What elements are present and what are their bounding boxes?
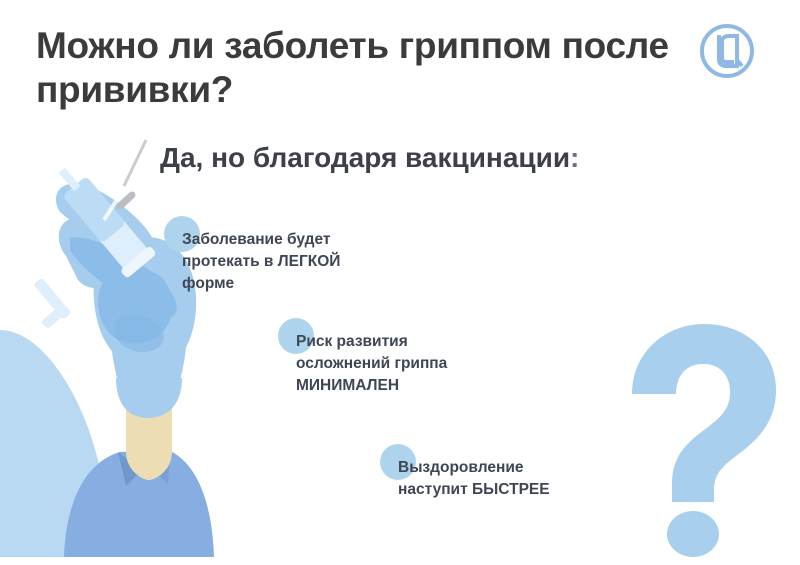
list-item-label: Риск развития осложнений гриппа МИНИМАЛЕ… <box>296 318 538 397</box>
subtitle-punctuation: : <box>570 142 579 173</box>
subtitle-text: Да, но благодаря вакцинации <box>160 142 570 173</box>
list-item-label: Выздоровление наступит БЫСТРЕЕ <box>398 444 640 501</box>
list-item: Заболевание будет протекать в ЛЕГКОЙ фор… <box>164 216 424 295</box>
list-item: Выздоровление наступит БЫСТРЕЕ <box>380 444 640 501</box>
question-mark-icon <box>624 322 784 557</box>
page-title: Можно ли заболеть гриппом после прививки… <box>36 24 676 111</box>
list-item: Риск развития осложнений гриппа МИНИМАЛЕ… <box>278 318 538 397</box>
clinic-monogram-logo-icon <box>698 22 756 80</box>
subtitle: Да, но благодаря вакцинации: <box>160 142 579 174</box>
list-item-label: Заболевание будет протекать в ЛЕГКОЙ фор… <box>182 216 424 295</box>
infographic-poster: Можно ли заболеть гриппом после прививки… <box>0 0 800 565</box>
